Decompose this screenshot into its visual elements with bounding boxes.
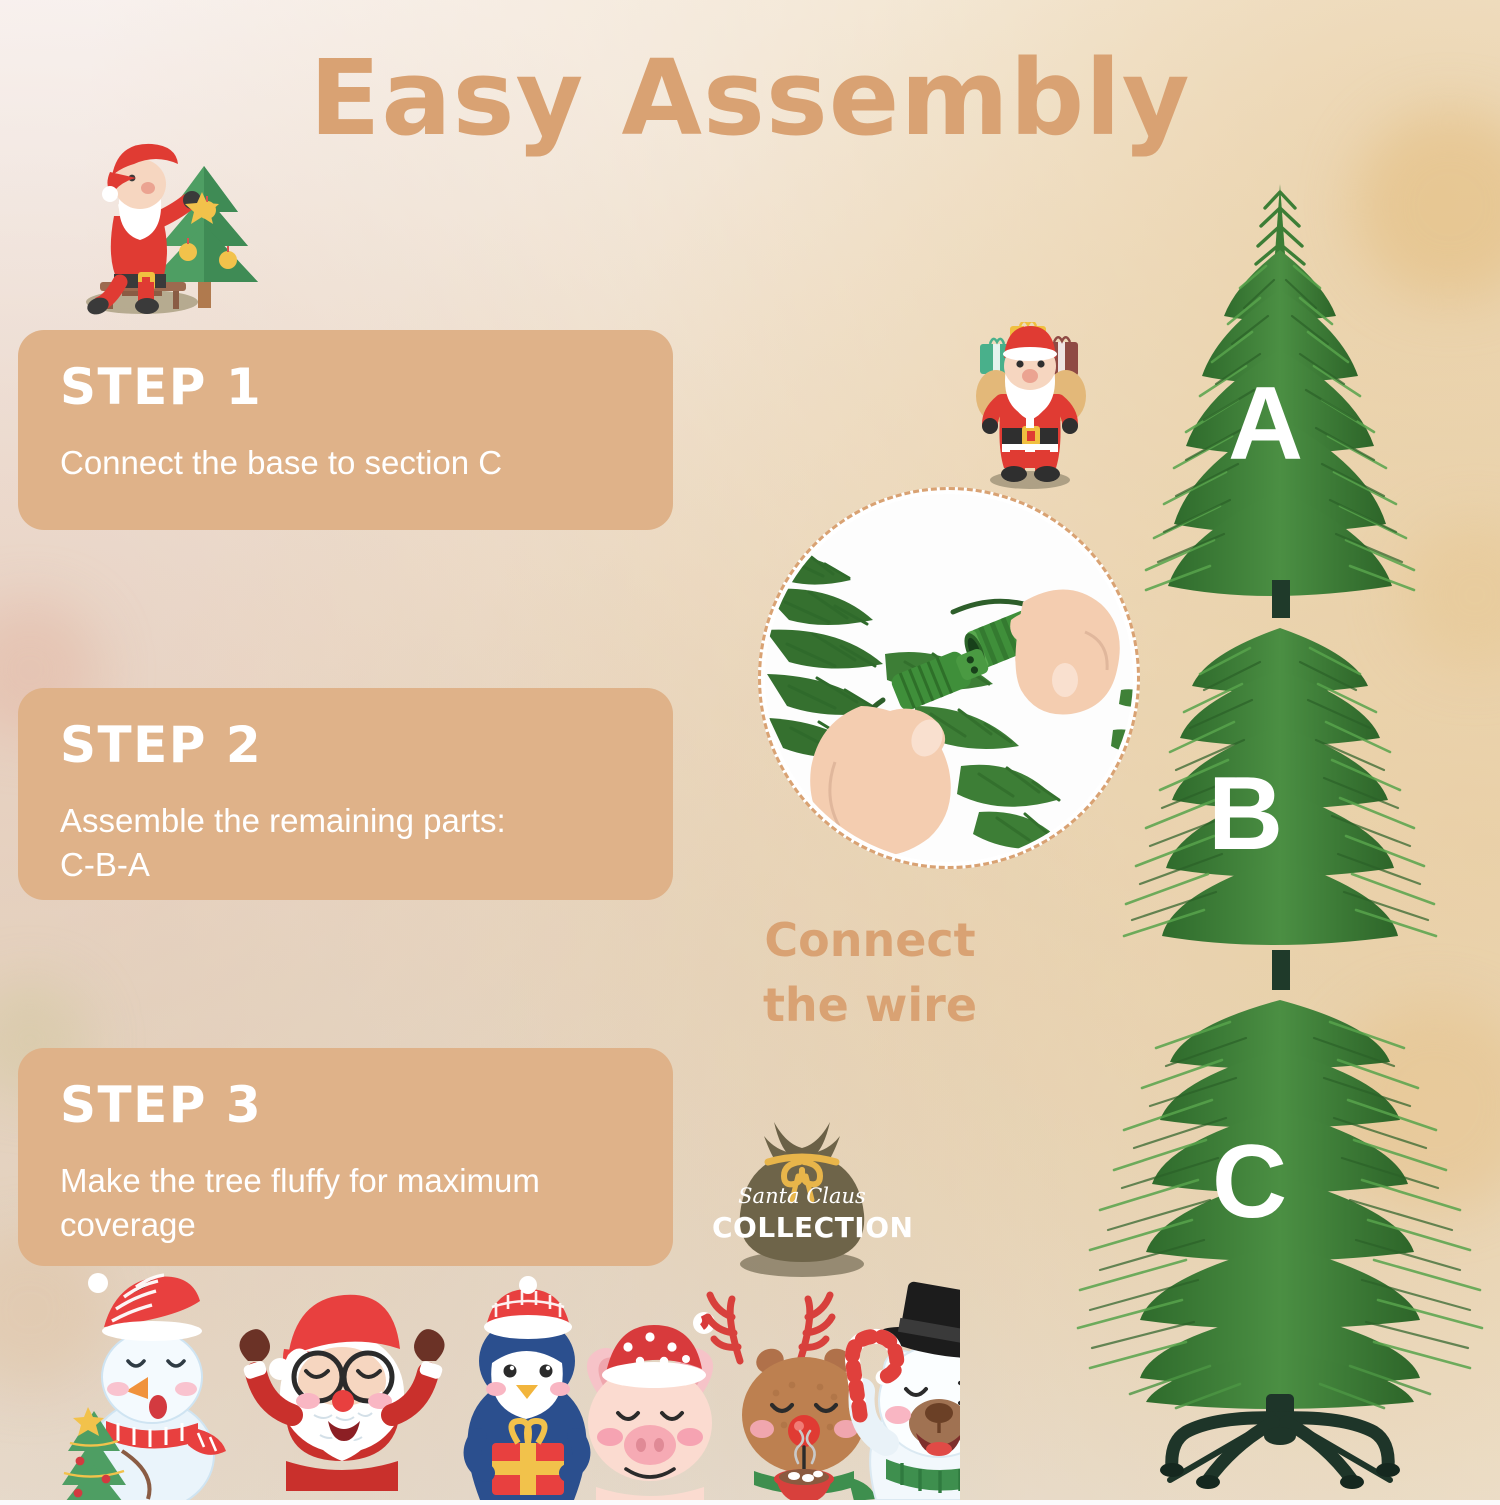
step-2-heading: STEP 2: [60, 718, 631, 773]
pig-with-santa-hat: [587, 1312, 715, 1500]
tree-stand: [1160, 1394, 1400, 1489]
step-card-1: STEP 1 Connect the base to section C: [18, 330, 673, 530]
step-2-body: Assemble the remaining parts: C-B-A: [60, 799, 631, 886]
santa-claus-collection-badge: Santa Claus COLLECTION: [712, 1112, 892, 1284]
connect-wire-caption: Connect the wire: [690, 908, 1050, 1039]
step-1-heading: STEP 1: [60, 360, 631, 415]
snowman-with-tree: [58, 1273, 226, 1500]
penguin-with-gift: [468, 1276, 587, 1500]
polar-bear-with-top-hat: [850, 1277, 960, 1500]
step-card-2: STEP 2 Assemble the remaining parts: C-B…: [18, 688, 673, 900]
tree-section-c-foliage: [1078, 1000, 1482, 1409]
christmas-tree-sections: A B C: [1060, 150, 1500, 1500]
holiday-character-row: [40, 1265, 960, 1500]
step-1-body: Connect the base to section C: [60, 441, 631, 485]
step-card-3: STEP 3 Make the tree fluffy for maximum …: [18, 1048, 673, 1266]
step-3-body: Make the tree fluffy for maximum coverag…: [60, 1159, 631, 1246]
tree-section-a-foliage: [1146, 184, 1414, 618]
santa-decorating-tree-illustration: [62, 130, 282, 320]
step-3-heading: STEP 3: [60, 1078, 631, 1133]
tree-section-b-foliage: [1124, 628, 1436, 990]
santa-with-glasses: [239, 1295, 444, 1491]
